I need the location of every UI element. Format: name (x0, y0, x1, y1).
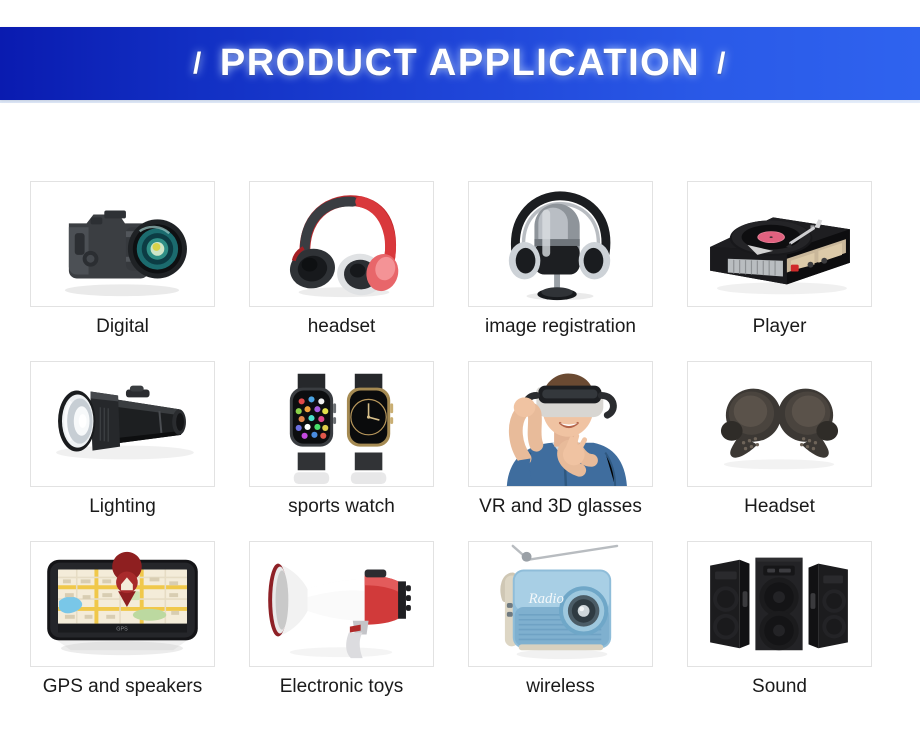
product-label: GPS and speakers (30, 677, 215, 698)
product-thumbnail[interactable]: GPS (30, 541, 215, 667)
product-thumbnail[interactable] (687, 181, 872, 307)
product-thumbnail[interactable] (687, 541, 872, 667)
vintage-radio-icon: Radio (469, 542, 652, 666)
product-application-page: / PRODUCT APPLICATION / (0, 0, 920, 734)
product-thumbnail[interactable] (30, 181, 215, 307)
grid-item[interactable]: sports watch (249, 361, 434, 518)
product-label: wireless (468, 677, 653, 698)
page-title-text: PRODUCT APPLICATION (220, 42, 700, 85)
product-thumbnail[interactable] (249, 361, 434, 487)
right-slash-decoration: / (717, 47, 727, 81)
product-label: headset (249, 317, 434, 338)
left-slash-decoration: / (193, 47, 203, 81)
radio-brand-text: Radio (528, 591, 564, 607)
product-label: image registration (468, 317, 653, 338)
product-thumbnail[interactable]: Radio (468, 541, 653, 667)
grid-item[interactable]: VR and 3D glasses (468, 361, 653, 518)
product-label: Lighting (30, 497, 215, 518)
grid-item[interactable]: Player (687, 181, 872, 338)
product-label: Headset (687, 497, 872, 518)
gps-navigator-icon: GPS (31, 542, 214, 666)
grid-item[interactable]: GPS GPS and speakers (30, 541, 215, 698)
grid-item[interactable]: Digital (30, 181, 215, 338)
product-application-grid: Digital (30, 181, 890, 698)
grid-item[interactable]: Sound (687, 541, 872, 698)
product-label: VR and 3D glasses (468, 497, 653, 518)
product-label: Digital (30, 317, 215, 338)
product-label: Player (687, 317, 872, 338)
product-thumbnail[interactable] (30, 361, 215, 487)
grid-item[interactable]: image registration (468, 181, 653, 338)
grid-item[interactable]: headset (249, 181, 434, 338)
page-title: / PRODUCT APPLICATION / (193, 42, 727, 85)
studio-microphone-headphones-icon (469, 182, 652, 306)
grid-item[interactable]: Electronic toys (249, 541, 434, 698)
product-label: Sound (687, 677, 872, 698)
grid-item[interactable]: Headset (687, 361, 872, 518)
product-thumbnail[interactable] (468, 361, 653, 487)
wireless-earbuds-icon (688, 362, 871, 486)
product-label: sports watch (249, 497, 434, 518)
smartwatch-pair-icon (250, 362, 433, 486)
red-over-ear-headphones-icon (250, 182, 433, 306)
gps-screen-label: GPS (116, 626, 128, 632)
page-banner: / PRODUCT APPLICATION / (0, 27, 920, 100)
grid-item[interactable]: Lighting (30, 361, 215, 518)
product-thumbnail[interactable] (249, 181, 434, 307)
grid-item[interactable]: Radio wireless (468, 541, 653, 698)
dslr-camera-icon (31, 182, 214, 306)
product-label: Electronic toys (249, 677, 434, 698)
flashlight-icon (31, 362, 214, 486)
product-thumbnail[interactable] (687, 361, 872, 487)
vr-headset-man-icon (469, 362, 652, 486)
megaphone-icon (250, 542, 433, 666)
product-thumbnail[interactable] (249, 541, 434, 667)
product-thumbnail[interactable] (468, 181, 653, 307)
pa-speaker-stack-icon (688, 542, 871, 666)
vinyl-turntable-icon (688, 182, 871, 306)
